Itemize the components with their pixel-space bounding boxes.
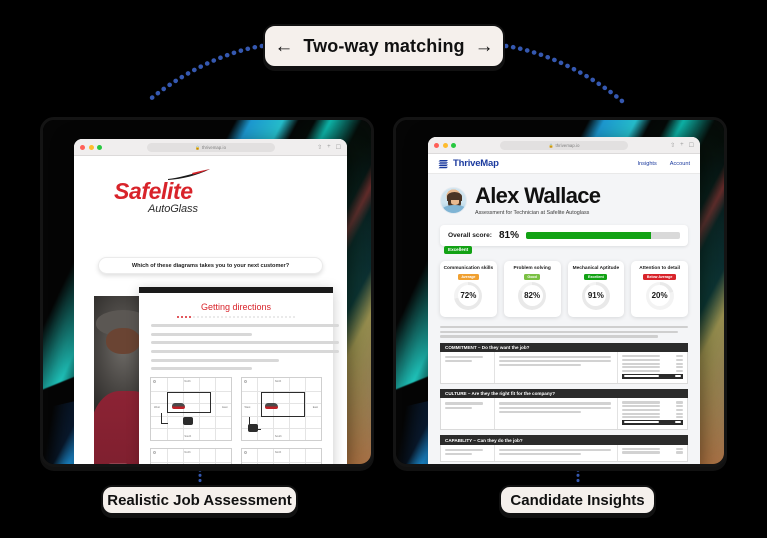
radio-icon[interactable]	[244, 380, 247, 383]
nav-link-insights[interactable]: Insights	[638, 161, 657, 167]
section-question-column	[495, 398, 618, 429]
diagram-option-b[interactable]: North West East South	[241, 377, 323, 441]
section-heading: CULTURE – Are they the right fit for the…	[440, 389, 688, 398]
guide-text	[440, 326, 688, 338]
section-prompt-column	[441, 352, 495, 383]
thrivemap-navbar: ThriveMap Insights Account	[428, 154, 700, 174]
share-icon[interactable]: ⇧	[670, 142, 675, 149]
radio-icon[interactable]	[153, 380, 156, 383]
overall-score-label: Overall score:	[448, 232, 492, 239]
thrivemap-wordmark: ThriveMap	[453, 158, 499, 169]
browser-chrome: 🔒 thrivemap.io ⇧ + ☐	[428, 137, 700, 154]
competency-value: 91%	[588, 291, 604, 300]
car-marker	[265, 403, 278, 409]
section-question-column	[495, 445, 618, 461]
competency-title: Mechanical Aptitude	[573, 266, 619, 271]
scale-option	[622, 355, 683, 357]
scale-option	[622, 359, 683, 361]
lock-icon: 🔒	[195, 145, 200, 150]
arc-left	[148, 46, 262, 101]
swoosh-icon	[166, 169, 212, 181]
two-way-matching-badge: ← Two-way matching →	[263, 24, 505, 68]
minimize-icon[interactable]	[443, 143, 448, 148]
grid-label-east: East	[313, 406, 318, 409]
document-paragraph	[151, 350, 339, 353]
new-tab-icon[interactable]: +	[327, 144, 331, 150]
competency-value: 72%	[460, 291, 476, 300]
tabs-icon[interactable]: ☐	[689, 142, 694, 149]
grid-label-west: West	[154, 406, 160, 409]
candidate-hero: Alex Wallace Assessment for Technician a…	[428, 174, 700, 216]
assessment-page: Safelite AutoGlass Which of these diagra…	[74, 156, 347, 467]
left-panel-realistic-job-assessment: 🔒 thrivemap.io ⇧ + ☐ Safelite A	[40, 117, 374, 467]
url-text: thrivemap.io	[202, 145, 226, 150]
diagram-option-d[interactable]: North	[241, 448, 323, 467]
section-heading: COMMITMENT – Do they want the job?	[440, 343, 688, 352]
arrow-left-icon: ←	[274, 37, 293, 56]
van-marker	[183, 417, 193, 425]
nav-link-account[interactable]: Account	[670, 161, 690, 167]
document-paragraph	[151, 367, 252, 370]
grid-label-south: South	[184, 435, 191, 438]
document-paragraph	[151, 324, 339, 327]
safelite-wordmark: Safelite	[114, 180, 239, 203]
section-body	[440, 445, 688, 462]
address-bar[interactable]: 🔒 thrivemap.io	[500, 141, 628, 150]
insights-page: ThriveMap Insights Account Alex Wallace	[428, 154, 700, 467]
minimize-icon[interactable]	[89, 145, 94, 150]
right-panel-candidate-insights: 🔒 thrivemap.io ⇧ + ☐	[393, 117, 727, 467]
new-tab-icon[interactable]: +	[680, 142, 684, 148]
insights-body: Alex Wallace Assessment for Technician a…	[428, 174, 700, 467]
section-commitment: COMMITMENT – Do they want the job?	[440, 343, 688, 384]
arrow-right-icon: →	[475, 37, 494, 56]
scale-option	[622, 413, 683, 415]
overall-score-bar	[526, 232, 680, 239]
competency-title: Attention to detail	[639, 266, 680, 271]
competency-card: Problem solvingGood82%	[504, 261, 561, 317]
maximize-icon[interactable]	[451, 143, 456, 148]
caption-realistic-job-assessment: Realistic Job Assessment	[101, 485, 298, 515]
radio-icon[interactable]	[244, 451, 247, 454]
section-scale-column[interactable]	[618, 445, 687, 461]
caption-left-label: Realistic Job Assessment	[107, 492, 292, 509]
competency-value: 20%	[652, 291, 668, 300]
scale-option	[622, 370, 683, 372]
thrivemap-logo[interactable]: ThriveMap	[438, 158, 499, 169]
candidate-subtitle: Assessment for Technician at Safelite Au…	[475, 210, 600, 216]
assessment-question-pill: Which of these diagrams takes you to you…	[98, 257, 323, 274]
scale-option	[622, 363, 683, 365]
caption-right-label: Candidate Insights	[510, 492, 644, 509]
grid-label-north: North	[184, 451, 190, 454]
scale-option	[622, 366, 683, 368]
document-paragraph	[151, 333, 252, 336]
section-prompt-column	[441, 398, 495, 429]
assessment-document: Getting directions	[94, 287, 333, 467]
grid-label-north: North	[275, 451, 281, 454]
competency-donut: 20%	[646, 282, 674, 310]
share-icon[interactable]: ⇧	[317, 144, 322, 151]
section-heading: CAPABILITY – Can they do the job?	[440, 435, 688, 444]
radio-icon[interactable]	[153, 451, 156, 454]
scale-option-selected	[622, 420, 683, 425]
section-body	[440, 352, 688, 384]
diagram-option-c[interactable]: North	[150, 448, 232, 467]
assessment-question-text: Which of these diagrams takes you to you…	[132, 263, 289, 269]
competency-badge: Excellent	[584, 274, 607, 280]
overall-status-badge: Excellent	[444, 246, 472, 254]
browser-window-insights: 🔒 thrivemap.io ⇧ + ☐	[428, 137, 700, 467]
competency-card: Communication skillsAverage72%	[440, 261, 497, 317]
scale-option	[622, 409, 683, 411]
document-title: Getting directions	[139, 302, 333, 312]
lock-icon: 🔒	[549, 143, 554, 148]
address-bar[interactable]: 🔒 thrivemap.io	[147, 143, 275, 152]
safelite-logo: Safelite AutoGlass	[114, 180, 239, 215]
window-controls[interactable]	[434, 143, 456, 148]
grid-label-south: South	[275, 435, 282, 438]
overall-score-row: Overall score: 81% Excellent	[440, 225, 688, 246]
overall-score-value: 81%	[499, 230, 519, 241]
close-icon[interactable]	[80, 145, 85, 150]
url-text: thrivemap.io	[555, 143, 579, 148]
competency-card: Attention to detailBelow Average20%	[631, 261, 688, 317]
grid-label-west: West	[245, 406, 251, 409]
diagram-options-row-2[interactable]: North North	[150, 448, 322, 467]
section-scale-column[interactable]	[618, 398, 687, 429]
avatar	[440, 187, 467, 214]
browser-chrome: 🔒 thrivemap.io ⇧ + ☐	[74, 139, 347, 156]
car-marker	[172, 403, 185, 409]
maximize-icon[interactable]	[97, 145, 102, 150]
grid-label-north: North	[184, 380, 190, 383]
document-card: Getting directions	[139, 287, 333, 467]
two-way-matching-label: Two-way matching	[303, 36, 464, 57]
diagram-options-row[interactable]: North West East South	[150, 377, 322, 441]
tabs-icon[interactable]: ☐	[336, 144, 341, 151]
competency-badge: Good	[524, 274, 540, 280]
grid-label-north: North	[275, 380, 281, 383]
competency-value: 82%	[524, 291, 540, 300]
document-topbar	[139, 287, 333, 293]
competency-title: Communication skills	[444, 266, 494, 271]
scale-option	[622, 405, 683, 407]
window-controls[interactable]	[80, 145, 102, 150]
scale-option	[622, 401, 683, 403]
autoglass-wordmark: AutoGlass	[148, 203, 239, 215]
section-prompt-column	[441, 445, 495, 461]
section-scale-column[interactable]	[618, 352, 687, 383]
section-body	[440, 398, 688, 430]
scale-option-selected	[622, 374, 683, 379]
close-icon[interactable]	[434, 143, 439, 148]
competency-badge: Average	[458, 274, 479, 280]
competency-cards: Communication skillsAverage72%Problem so…	[440, 261, 688, 317]
competency-title: Problem solving	[513, 266, 550, 271]
section-culture: CULTURE – Are they the right fit for the…	[440, 389, 688, 430]
competency-donut: 72%	[454, 282, 482, 310]
document-paragraph	[151, 341, 339, 344]
competency-donut: 91%	[582, 282, 610, 310]
grid-label-east: East	[222, 406, 227, 409]
scale-option	[622, 448, 683, 450]
competency-badge: Below Average	[643, 274, 676, 280]
scale-option	[622, 416, 683, 418]
van-marker	[248, 424, 258, 432]
section-question-column	[495, 352, 618, 383]
scale-option	[622, 451, 683, 453]
diagram-option-a[interactable]: North West East South	[150, 377, 232, 441]
caption-candidate-insights: Candidate Insights	[499, 485, 656, 515]
overall-score-bar-fill	[526, 232, 651, 239]
document-paragraph	[151, 359, 279, 362]
competency-card: Mechanical AptitudeExcellent91%	[568, 261, 625, 317]
candidate-name: Alex Wallace	[475, 185, 600, 207]
section-capability: CAPABILITY – Can they do the job?	[440, 435, 688, 462]
competency-donut: 82%	[518, 282, 546, 310]
nav-links[interactable]: Insights Account	[638, 161, 691, 167]
thrivemap-mark-icon	[438, 158, 449, 169]
browser-window-assessment: 🔒 thrivemap.io ⇧ + ☐ Safelite A	[74, 139, 347, 467]
chrome-actions[interactable]: ⇧ + ☐	[317, 144, 341, 151]
chrome-actions[interactable]: ⇧ + ☐	[670, 142, 694, 149]
progress-dots	[139, 316, 333, 318]
canvas: ← Two-way matching → 🔒 thrivemap.io	[0, 0, 767, 538]
arc-right	[506, 46, 622, 101]
